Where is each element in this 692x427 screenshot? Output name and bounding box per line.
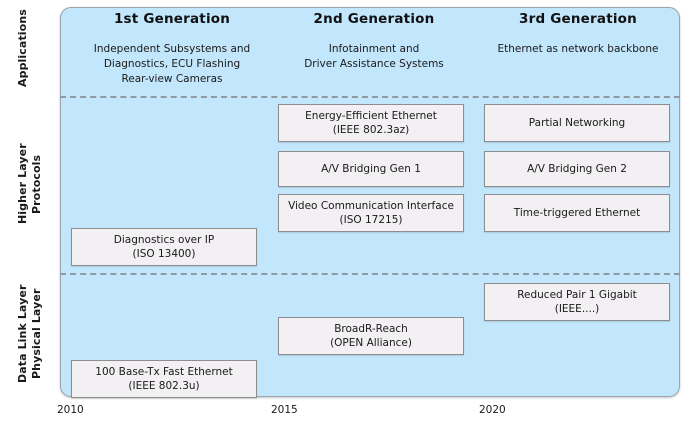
- tech-box-video-communication-interface: Video Communication Interface (ISO 17215…: [278, 194, 464, 232]
- generation-heading-2nd: 2nd Generation: [276, 11, 472, 27]
- generation-heading-3rd: 3rd Generation: [482, 11, 674, 27]
- tech-box-av-bridging-gen-1: A/V Bridging Gen 1: [278, 151, 464, 187]
- axis-label-data-link-physical-layer: Data Link Layer Physical Layer: [16, 272, 60, 396]
- band-divider-applications: [60, 96, 680, 98]
- tech-box-reduced-pair-1-gigabit: Reduced Pair 1 Gigabit (IEEE....): [484, 283, 670, 321]
- generation-heading-1st: 1st Generation: [72, 11, 272, 27]
- tech-box-av-bridging-gen-2: A/V Bridging Gen 2: [484, 151, 670, 187]
- tech-box-broadr-reach: BroadR-Reach (OPEN Alliance): [278, 317, 464, 355]
- year-label-2010: 2010: [57, 404, 84, 416]
- tech-box-100-base-tx-fast-ethernet: 100 Base-Tx Fast Ethernet (IEEE 802.3u): [71, 360, 257, 398]
- generation-description-2nd: Infotainment and Driver Assistance Syste…: [276, 42, 472, 72]
- year-label-2015: 2015: [271, 404, 298, 416]
- generation-description-1st: Independent Subsystems and Diagnostics, …: [64, 42, 280, 87]
- axis-label-higher-layer-protocols: Higher Layer Protocols: [16, 96, 60, 272]
- tech-box-time-triggered-ethernet: Time-triggered Ethernet: [484, 194, 670, 232]
- tech-box-energy-efficient-ethernet: Energy-Efficient Ethernet (IEEE 802.3az): [278, 104, 464, 142]
- axis-label-applications: Applications: [16, 0, 60, 96]
- year-label-2020: 2020: [479, 404, 506, 416]
- band-divider-higher-layer-protocols: [60, 273, 680, 275]
- generation-description-3rd: Ethernet as network backbone: [476, 42, 680, 57]
- tech-box-partial-networking: Partial Networking: [484, 104, 670, 142]
- tech-box-diagnostics-over-ip: Diagnostics over IP (ISO 13400): [71, 228, 257, 266]
